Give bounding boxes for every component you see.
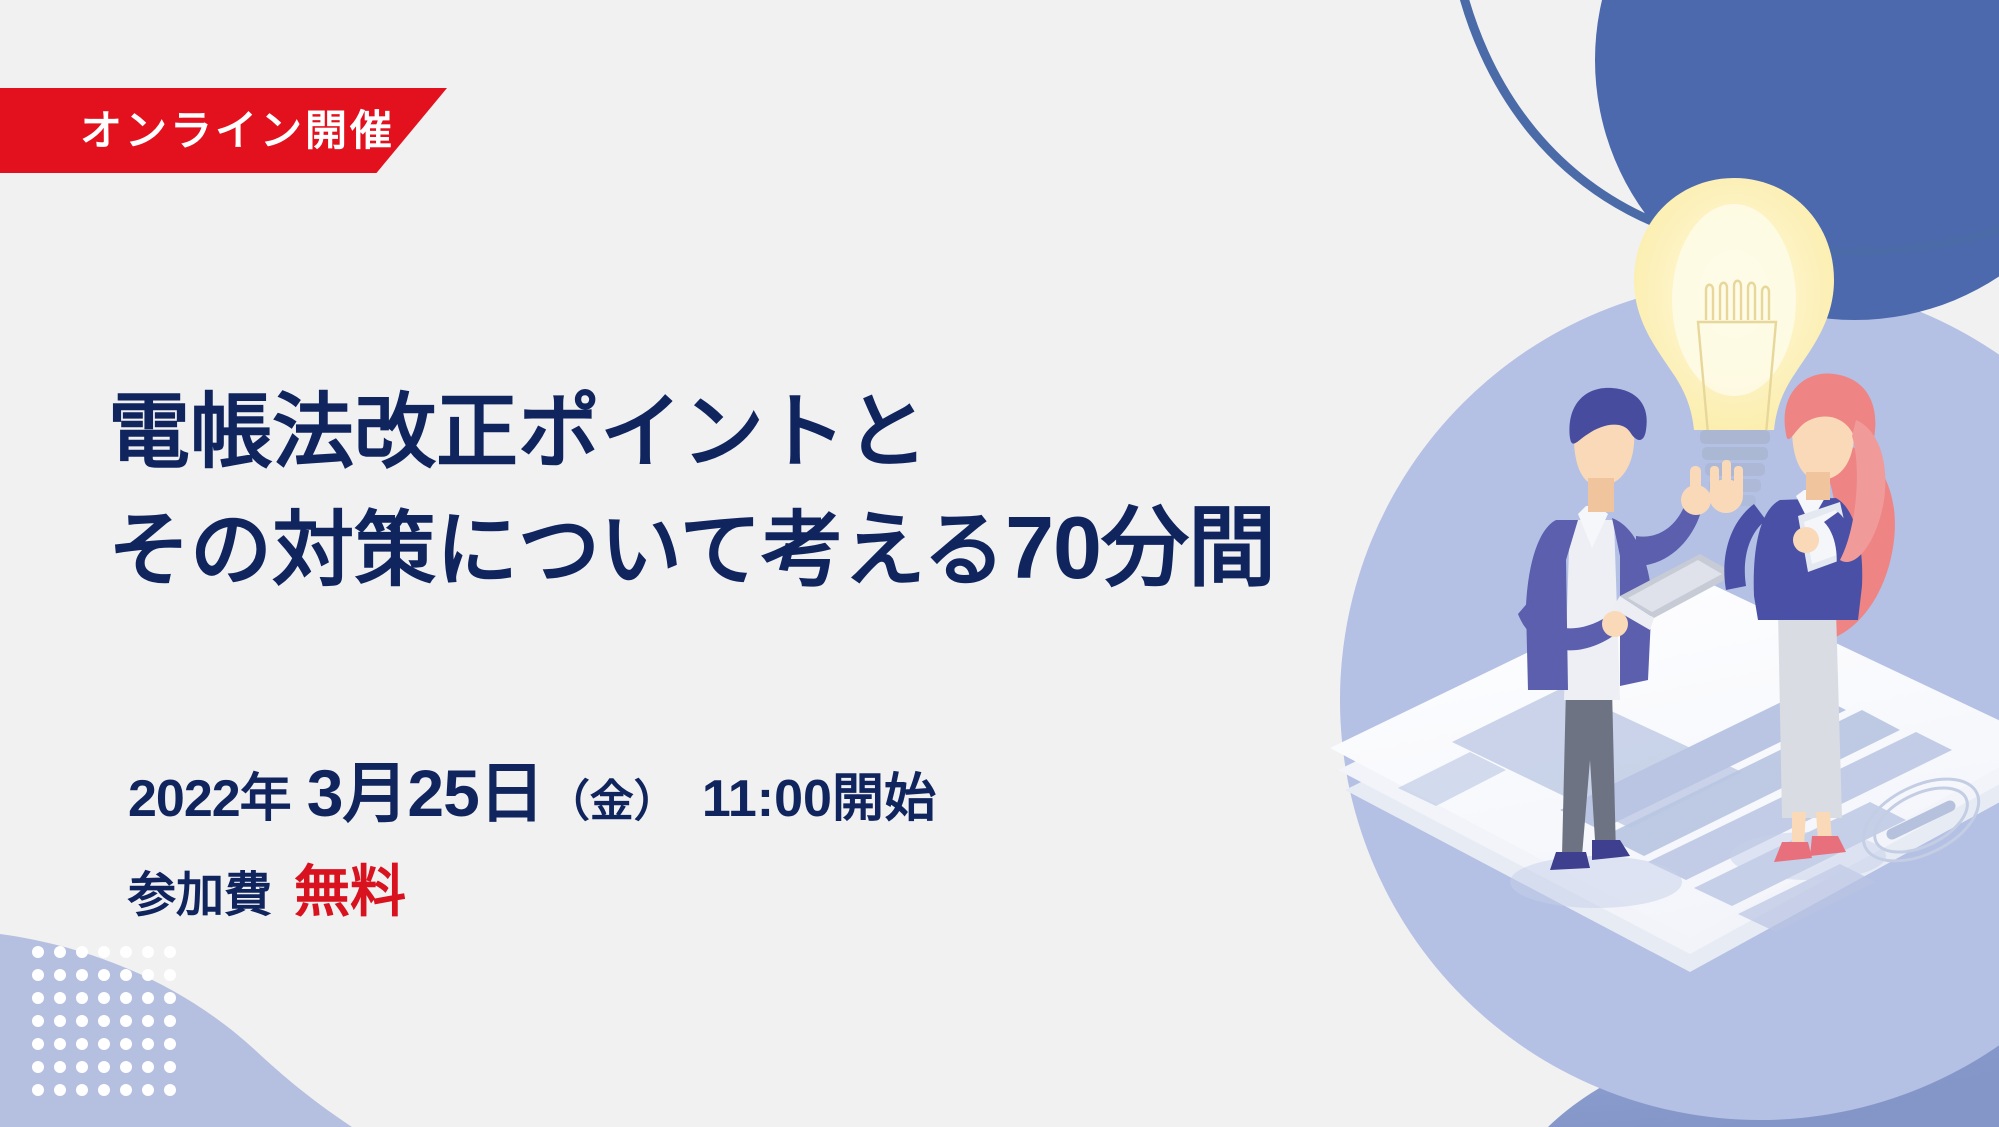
page-title-duration: 70分間 — [1005, 498, 1275, 597]
webinar-banner: オンライン開催 電帳法改正ポイントと その対策について考える70分間 2022年… — [0, 0, 1999, 1127]
event-fee-row: 参加費 無料 — [128, 864, 936, 920]
woman-neck — [1806, 472, 1830, 500]
online-badge-shape: オンライン開催 — [0, 88, 447, 173]
online-badge-label: オンライン開催 — [80, 110, 395, 152]
page-title-line2: その対策について考える70分間 — [108, 492, 1275, 605]
woman-hand-open — [1709, 460, 1743, 513]
event-start-time: 11:00開始 — [702, 773, 936, 825]
event-info: 2022年 3月25日 （金） 11:00開始 参加費 無料 — [128, 760, 936, 920]
man-hand-left — [1602, 611, 1628, 637]
page-title: 電帳法改正ポイントと その対策について考える70分間 — [108, 381, 1275, 605]
event-year: 2022年 — [128, 773, 291, 825]
online-badge: オンライン開催 — [0, 88, 447, 173]
page-title-line2-text: その対策について考える — [108, 505, 1005, 596]
woman-hand-right — [1793, 527, 1819, 553]
event-fee-label: 参加費 — [128, 872, 272, 920]
woman-skirt — [1778, 610, 1842, 818]
event-fee-value: 無料 — [294, 864, 406, 920]
man-neck — [1588, 478, 1614, 512]
man-shoe-left — [1550, 852, 1590, 870]
page-title-line1: 電帳法改正ポイントと — [108, 381, 1275, 486]
event-date-row: 2022年 3月25日 （金） 11:00開始 — [128, 760, 936, 826]
event-month-day: 3月25日 — [307, 760, 544, 826]
man-shadow — [1510, 856, 1682, 908]
event-day-of-week: （金） — [546, 780, 678, 824]
